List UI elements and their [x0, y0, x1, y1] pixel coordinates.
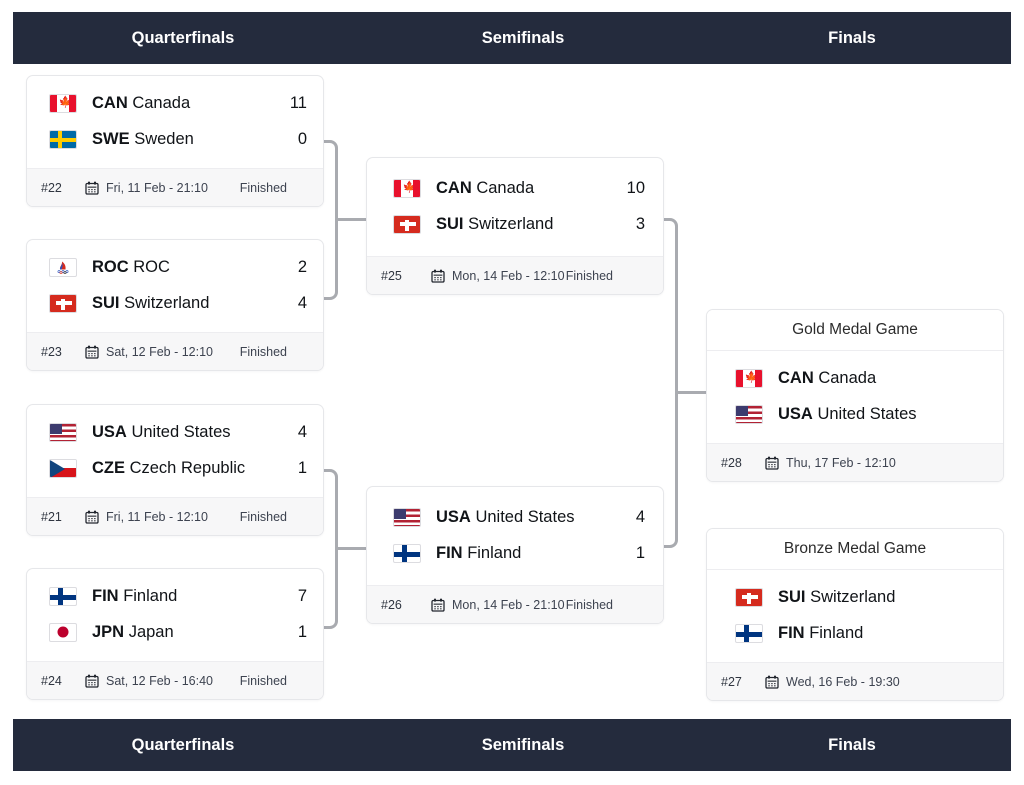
- flag-cze-icon: [49, 459, 77, 478]
- calendar-icon: [431, 269, 445, 283]
- calendar-icon: [85, 181, 99, 195]
- team-row[interactable]: 🍁 CAN Canada 10: [367, 170, 663, 206]
- round-label-quarterfinals-bottom: Quarterfinals: [13, 736, 353, 755]
- flag-roc-icon: [49, 258, 77, 277]
- match-card-sf2[interactable]: USA United States 4 FIN Finland 1 #26 Mo…: [366, 486, 664, 624]
- team-row[interactable]: FIN Finland 1: [367, 535, 663, 571]
- team-row[interactable]: SUI Switzerland 3: [367, 206, 663, 242]
- team-row[interactable]: SWE Sweden 0: [27, 121, 323, 157]
- team-list: SUI Switzerland FIN Finland: [707, 570, 1003, 662]
- round-label-quarterfinals-top: Quarterfinals: [13, 29, 353, 48]
- match-footer: #22 Fri, 11 Feb - 21:10 Finished: [27, 168, 323, 206]
- connector-to-sf2: [336, 547, 366, 550]
- match-footer: #26 Mon, 14 Feb - 21:10 Finished: [367, 585, 663, 623]
- flag-usa-icon: [735, 405, 763, 424]
- team-name: USA United States: [436, 508, 627, 527]
- connector-sf1-sf2: [664, 218, 678, 548]
- round-label-finals-top: Finals: [693, 29, 1011, 48]
- team-list: USA United States 4 FIN Finland 1: [367, 487, 663, 585]
- calendar-icon: [765, 456, 779, 470]
- team-name: FIN Finland: [778, 624, 967, 643]
- round-label-finals-bottom: Finals: [693, 736, 1011, 755]
- match-card-gold-medal[interactable]: Gold Medal Game 🍁 CAN Canada USA United …: [706, 309, 1004, 482]
- match-card-qf4[interactable]: FIN Finland 7 JPN Japan 1 #24 Sat, 12 Fe…: [26, 568, 324, 700]
- flag-fin-icon: [49, 587, 77, 606]
- match-footer: #28 Thu, 17 Feb - 12:10: [707, 443, 1003, 481]
- team-score: 11: [289, 94, 307, 113]
- match-date: Sat, 12 Feb - 16:40: [106, 674, 213, 688]
- calendar-icon: [85, 345, 99, 359]
- team-score: 1: [289, 459, 307, 478]
- match-number: #23: [41, 345, 85, 359]
- match-date: Fri, 11 Feb - 12:10: [106, 510, 208, 524]
- team-list: FIN Finland 7 JPN Japan 1: [27, 569, 323, 661]
- team-row[interactable]: USA United States 4: [367, 499, 663, 535]
- match-number: #25: [381, 269, 431, 283]
- team-score: 4: [289, 294, 307, 313]
- match-status: Finished: [240, 510, 309, 524]
- team-score: 7: [289, 587, 307, 606]
- team-score: 4: [627, 508, 645, 527]
- connector-to-sf1: [336, 218, 366, 221]
- team-list: 🍁 CAN Canada USA United States: [707, 351, 1003, 443]
- flag-fin-icon: [735, 624, 763, 643]
- flag-sui-icon: [393, 215, 421, 234]
- match-status: Finished: [566, 598, 649, 612]
- team-name: USA United States: [92, 423, 289, 442]
- gold-medal-title: Gold Medal Game: [707, 310, 1003, 351]
- match-number: #27: [721, 675, 765, 689]
- team-name: SUI Switzerland: [92, 294, 289, 313]
- match-status: Finished: [240, 181, 309, 195]
- match-number: #26: [381, 598, 431, 612]
- match-date: Wed, 16 Feb - 19:30: [786, 675, 900, 689]
- team-name: CAN Canada: [436, 179, 627, 198]
- team-row[interactable]: SUI Switzerland: [707, 579, 1003, 615]
- flag-sui-icon: [49, 294, 77, 313]
- team-name: FIN Finland: [436, 544, 627, 563]
- match-number: #28: [721, 456, 765, 470]
- connector-to-final: [676, 391, 706, 394]
- team-list: 🍁 CAN Canada 10 SUI Switzerland 3: [367, 158, 663, 256]
- match-number: #21: [41, 510, 85, 524]
- round-header-top: Quarterfinals Semifinals Finals: [13, 12, 1011, 64]
- team-row[interactable]: FIN Finland: [707, 615, 1003, 651]
- team-name: SUI Switzerland: [778, 588, 967, 607]
- team-name: JPN Japan: [92, 623, 289, 642]
- match-number: #22: [41, 181, 85, 195]
- match-date: Mon, 14 Feb - 21:10: [452, 598, 565, 612]
- team-list: 🍁 CAN Canada 11 SWE Sweden 0: [27, 76, 323, 168]
- team-score: 0: [289, 130, 307, 149]
- team-name: SWE Sweden: [92, 130, 289, 149]
- flag-usa-icon: [49, 423, 77, 442]
- calendar-icon: [85, 674, 99, 688]
- match-footer: #25 Mon, 14 Feb - 12:10 Finished: [367, 256, 663, 294]
- match-card-qf2[interactable]: ROC ROC 2 SUI Switzerland 4 #23 Sat, 12 …: [26, 239, 324, 371]
- match-status: Finished: [240, 674, 309, 688]
- team-row[interactable]: 🍁 CAN Canada 11: [27, 85, 323, 121]
- team-score: 3: [627, 215, 645, 234]
- match-status: Finished: [566, 269, 649, 283]
- match-card-qf1[interactable]: 🍁 CAN Canada 11 SWE Sweden 0 #22 Fri, 11…: [26, 75, 324, 207]
- match-card-bronze-medal[interactable]: Bronze Medal Game SUI Switzerland FIN Fi…: [706, 528, 1004, 701]
- team-row[interactable]: ROC ROC 2: [27, 249, 323, 285]
- calendar-icon: [85, 510, 99, 524]
- team-row[interactable]: FIN Finland 7: [27, 578, 323, 614]
- flag-usa-icon: [393, 508, 421, 527]
- team-row[interactable]: USA United States 4: [27, 414, 323, 450]
- match-footer: #23 Sat, 12 Feb - 12:10 Finished: [27, 332, 323, 370]
- match-footer: #24 Sat, 12 Feb - 16:40 Finished: [27, 661, 323, 699]
- team-name: ROC ROC: [92, 258, 289, 277]
- team-row[interactable]: JPN Japan 1: [27, 614, 323, 650]
- flag-sui-icon: [735, 588, 763, 607]
- match-status: Finished: [240, 345, 309, 359]
- match-date: Mon, 14 Feb - 12:10: [452, 269, 565, 283]
- team-row[interactable]: SUI Switzerland 4: [27, 285, 323, 321]
- round-label-semifinals-bottom: Semifinals: [353, 736, 693, 755]
- team-row[interactable]: CZE Czech Republic 1: [27, 450, 323, 486]
- calendar-icon: [431, 598, 445, 612]
- team-name: USA United States: [778, 405, 967, 424]
- flag-jpn-icon: [49, 623, 77, 642]
- match-card-qf3[interactable]: USA United States 4 CZE Czech Republic 1…: [26, 404, 324, 536]
- team-name: CAN Canada: [778, 369, 967, 388]
- bronze-medal-title: Bronze Medal Game: [707, 529, 1003, 570]
- match-date: Fri, 11 Feb - 21:10: [106, 181, 208, 195]
- team-row[interactable]: 🍁 CAN Canada: [707, 360, 1003, 396]
- team-score: 1: [289, 623, 307, 642]
- flag-swe-icon: [49, 130, 77, 149]
- match-number: #24: [41, 674, 85, 688]
- team-score: 1: [627, 544, 645, 563]
- team-score: 4: [289, 423, 307, 442]
- bracket-container: Quarterfinals Semifinals Finals 🍁 CAN Ca…: [0, 0, 1024, 785]
- match-card-sf1[interactable]: 🍁 CAN Canada 10 SUI Switzerland 3 #25 Mo…: [366, 157, 664, 295]
- team-name: CAN Canada: [92, 94, 289, 113]
- match-date: Sat, 12 Feb - 12:10: [106, 345, 213, 359]
- round-header-bottom: Quarterfinals Semifinals Finals: [13, 719, 1011, 771]
- match-date: Thu, 17 Feb - 12:10: [786, 456, 896, 470]
- calendar-icon: [765, 675, 779, 689]
- match-footer: #21 Fri, 11 Feb - 12:10 Finished: [27, 497, 323, 535]
- team-name: SUI Switzerland: [436, 215, 627, 234]
- flag-can-icon: 🍁: [735, 369, 763, 388]
- match-footer: #27 Wed, 16 Feb - 19:30: [707, 662, 1003, 700]
- flag-can-icon: 🍁: [49, 94, 77, 113]
- team-name: CZE Czech Republic: [92, 459, 289, 478]
- flag-can-icon: 🍁: [393, 179, 421, 198]
- round-label-semifinals-top: Semifinals: [353, 29, 693, 48]
- team-score: 2: [289, 258, 307, 277]
- team-row[interactable]: USA United States: [707, 396, 1003, 432]
- team-score: 10: [627, 179, 645, 198]
- team-list: ROC ROC 2 SUI Switzerland 4: [27, 240, 323, 332]
- team-list: USA United States 4 CZE Czech Republic 1: [27, 405, 323, 497]
- team-name: FIN Finland: [92, 587, 289, 606]
- flag-fin-icon: [393, 544, 421, 563]
